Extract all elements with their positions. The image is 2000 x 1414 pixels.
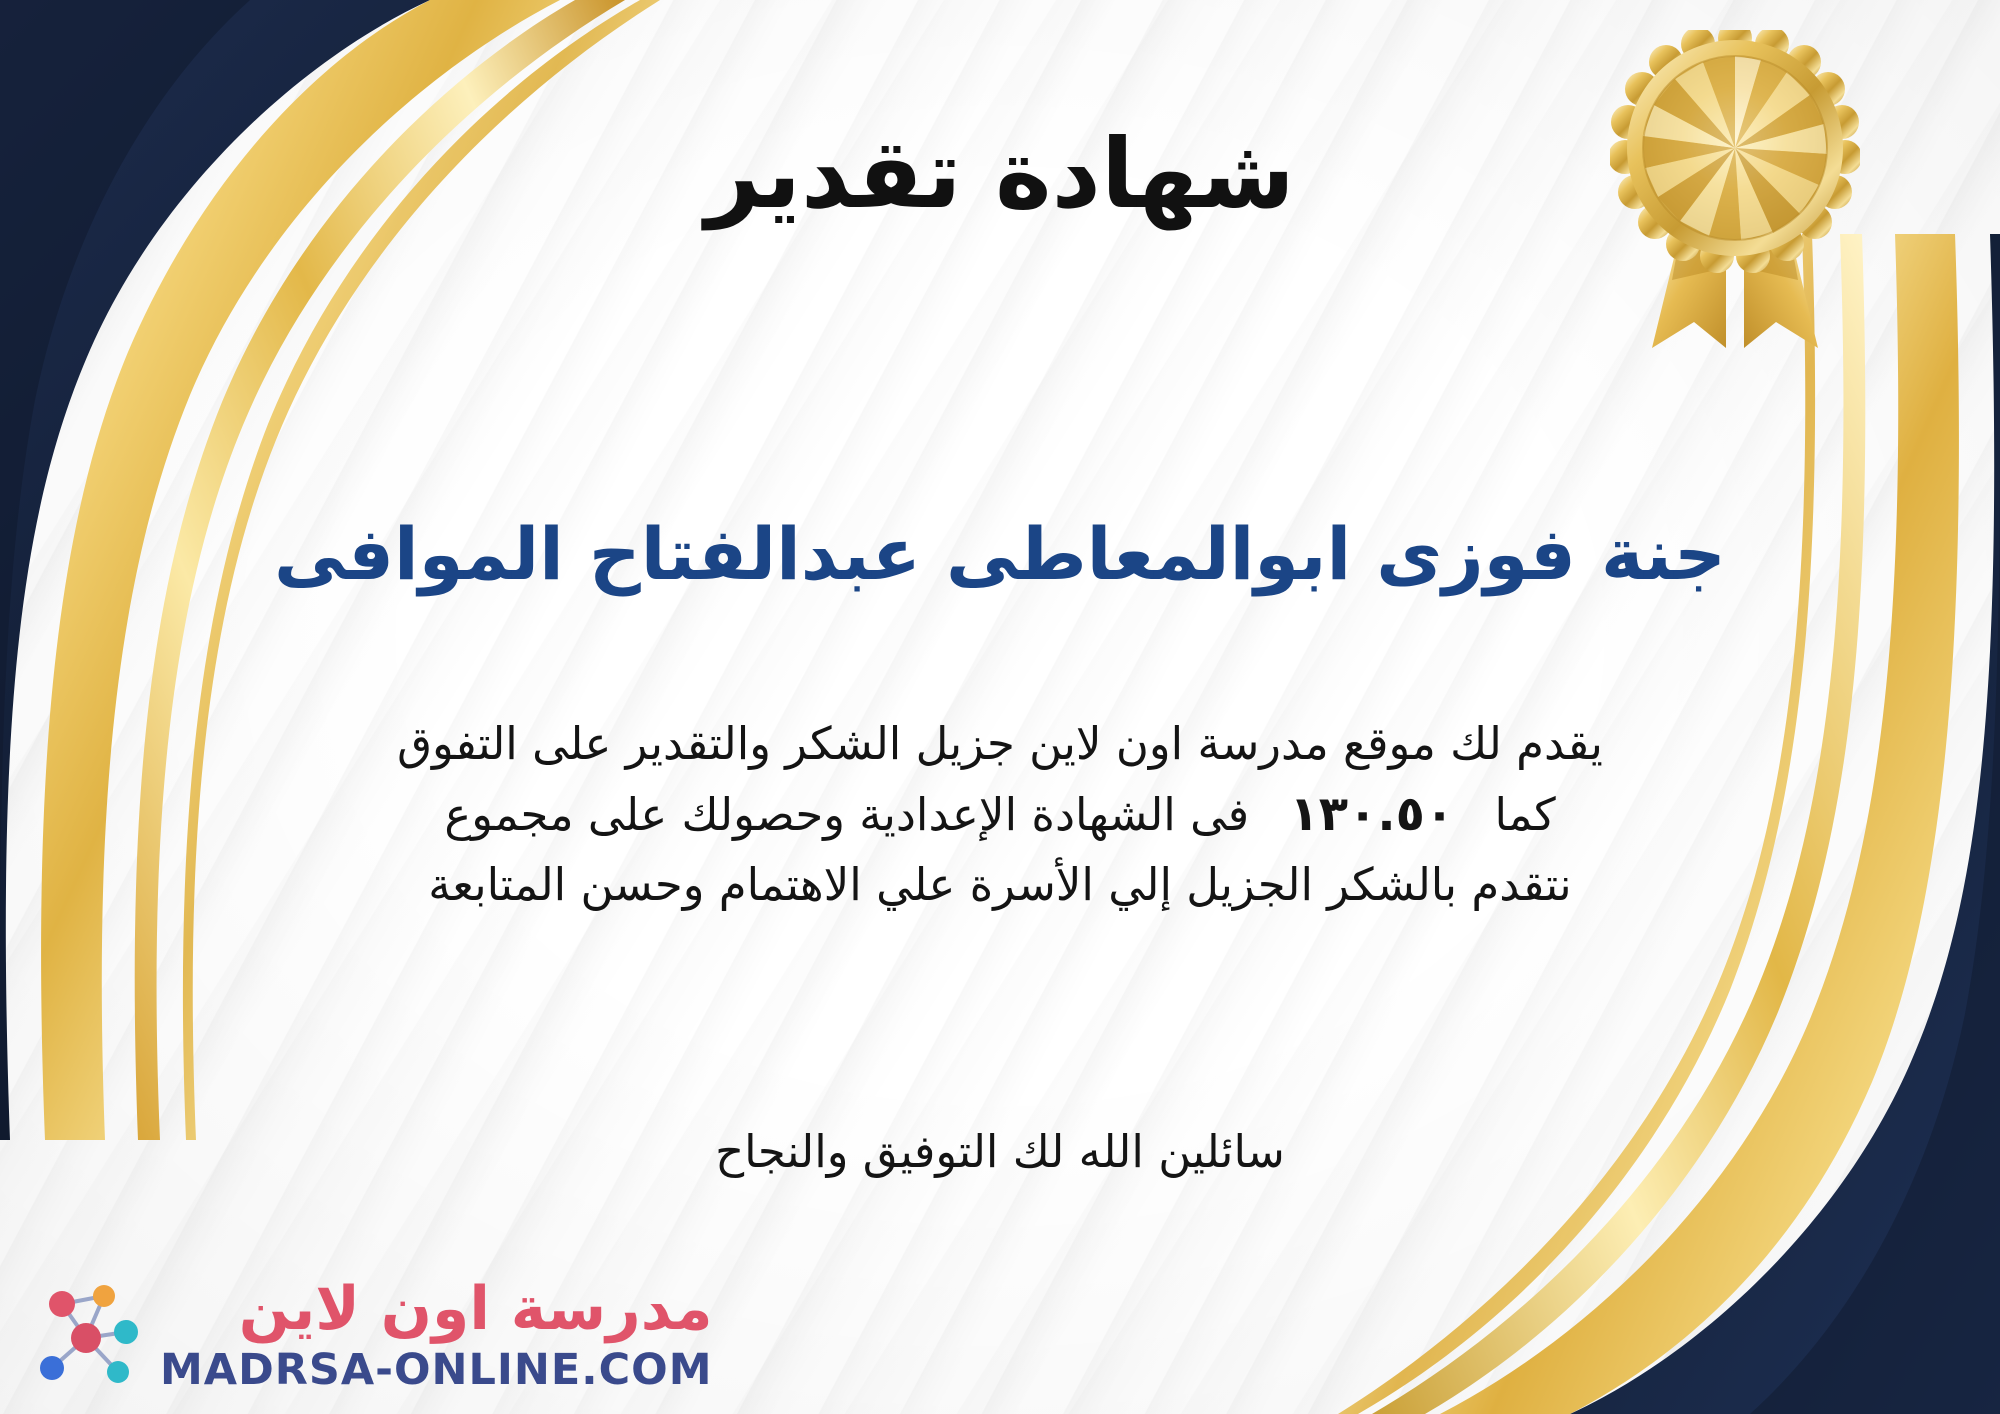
logo-arabic-text: مدرسة اون لاين	[239, 1279, 713, 1339]
logo-text-group: مدرسة اون لاين MADRSA-ONLINE.COM	[160, 1279, 713, 1392]
network-nodes-icon	[28, 1280, 146, 1392]
body-line-3: نتقدم بالشكر الجزيل إلي الأسرة علي الاهت…	[60, 851, 1940, 919]
award-rosette-icon	[1610, 30, 1860, 360]
grade-value: ١٣٠.٥٠	[1263, 786, 1480, 842]
certificate-body: يقدم لك موقع مدرسة اون لاين جزيل الشكر و…	[60, 710, 1940, 920]
certificate-canvas: شهادة تقدير جنة فوزى ابوالمعاطى عبدالفتا…	[0, 0, 2000, 1414]
logo-latin-text: MADRSA-ONLINE.COM	[160, 1349, 713, 1392]
site-logo[interactable]: مدرسة اون لاين MADRSA-ONLINE.COM	[28, 1279, 713, 1392]
closing-wish: سائلين الله لك التوفيق والنجاح	[0, 1125, 2000, 1178]
student-name: جنة فوزى ابوالمعاطى عبدالفتاح الموافى	[0, 512, 2000, 596]
body-line-1: يقدم لك موقع مدرسة اون لاين جزيل الشكر و…	[60, 710, 1940, 778]
body-line-2-before: فى الشهادة الإعدادية وحصولك على مجموع	[444, 788, 1249, 841]
body-line-2: كما ١٣٠.٥٠ فى الشهادة الإعدادية وحصولك ع…	[60, 778, 1940, 851]
body-line-2-after: كما	[1494, 788, 1555, 841]
